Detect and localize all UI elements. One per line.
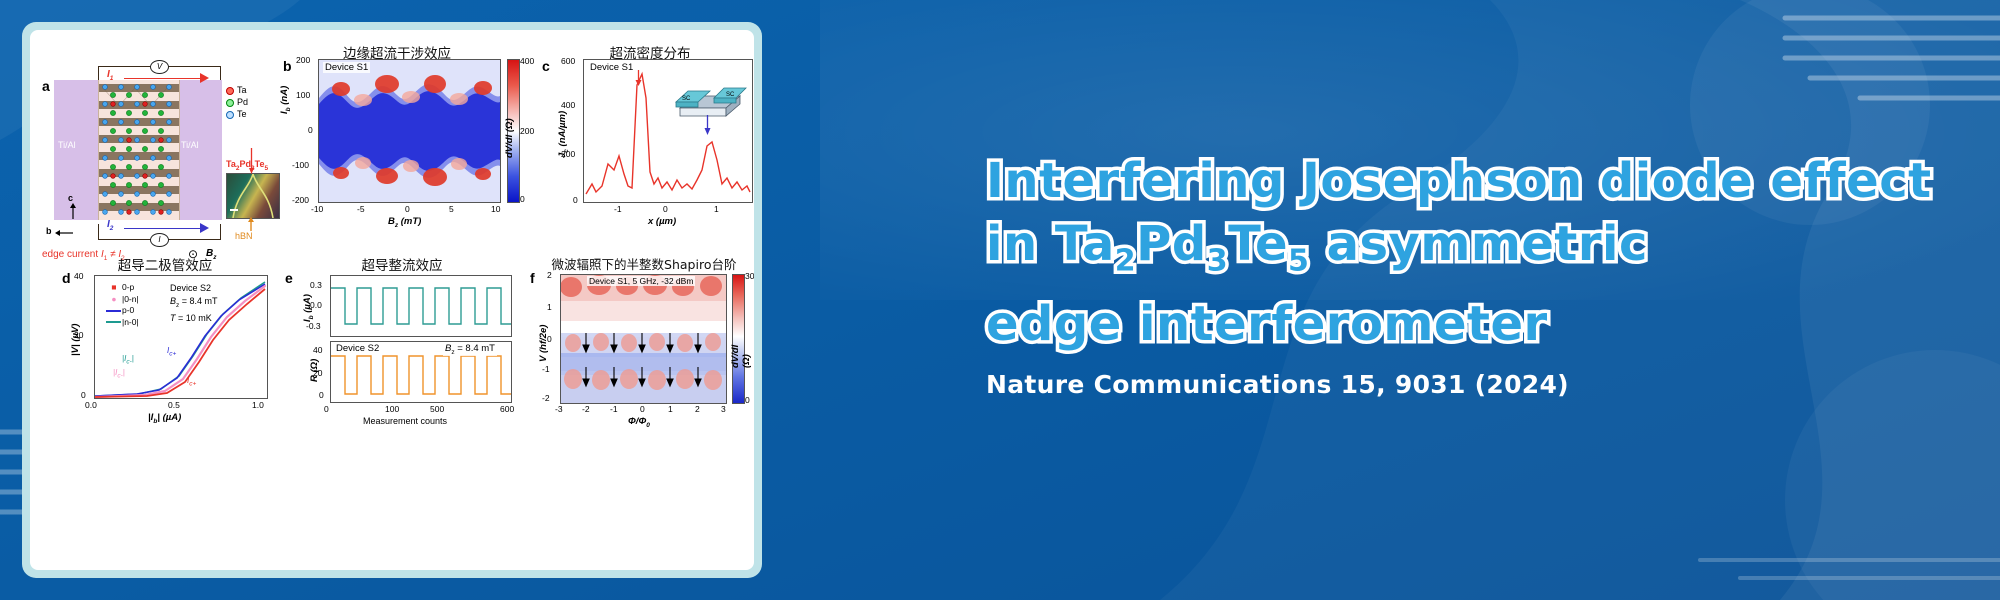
title-line-3: edge interferometer — [986, 293, 1966, 356]
contact-right — [177, 80, 222, 220]
panel-d-xtick-0: 0.0 — [85, 400, 97, 410]
panel-f-xtick-neg3: -3 — [555, 404, 563, 414]
title-line-2-b: Pd — [1136, 216, 1207, 272]
panel-d-legend-label-0n: |0-n| — [122, 294, 139, 304]
panel-d-legend-item-0n: ●|0-n| — [106, 294, 139, 306]
panel-f-xtick-neg2: -2 — [582, 404, 590, 414]
panel-f-title: 微波辐照下的半整数Shapiro台阶 — [528, 254, 754, 273]
panel-d-legend-item-0p: ■0-p — [106, 282, 139, 294]
device-photo-overlay — [227, 174, 279, 218]
panel-b-xtick-0: 0 — [405, 204, 410, 214]
material-arrow — [249, 148, 254, 174]
legend-label-pd: Pd — [237, 97, 248, 107]
panel-d-legend-item-n0: |n-0| — [106, 317, 139, 329]
panel-f-xtick-2: 2 — [695, 404, 700, 414]
voltmeter-icon: V — [150, 60, 169, 74]
panel-e-top-plot — [330, 275, 512, 337]
panel-f-xtick-0: 0 — [640, 404, 645, 414]
panel-f-label: f — [530, 270, 535, 286]
panel-d-xtick-05: 0.5 — [168, 400, 180, 410]
ta-atom-icon — [226, 87, 234, 95]
panel-d-label: d — [62, 270, 71, 286]
te-atom-icon — [226, 111, 234, 119]
legend-label-ta: Ta — [237, 85, 247, 95]
panel-e-xtick-600: 600 — [500, 404, 514, 414]
panel-c-ytick-400: 400 — [561, 100, 575, 110]
panel-f-cbar-tick-0: 0 — [745, 395, 750, 405]
legend-item-ta: Ta — [226, 84, 248, 96]
current-arrow-top — [124, 78, 202, 79]
figure-card: a V I Ti/Al Ti/Al — [22, 22, 762, 578]
panel-e-xtick-500: 500 — [430, 404, 444, 414]
panel-f-colorbar — [732, 274, 745, 404]
panel-b-cbar-tick-400: 400 — [520, 56, 534, 66]
panel-d-conditions: Device S2 Bz = 8.4 mT T = 10 mK — [170, 282, 218, 324]
panel-c-xtick-neg1: -1 — [614, 204, 622, 214]
title-line-2-sub1: 2 — [1115, 244, 1136, 279]
panel-b-ylabel: Ib (nA) — [279, 86, 292, 114]
panel-e-top-ylabel: Ib (µA) — [302, 294, 315, 322]
crystal-lattice-graphic — [98, 80, 180, 220]
axis-c-arrow — [70, 203, 76, 219]
panel-e-top-ytick-03: 0.3 — [310, 280, 322, 290]
panel-f-ytick-2: 2 — [547, 270, 552, 280]
panel-e-title: 超导整流效应 — [302, 254, 502, 274]
panel-c-device-tag: Device S1 — [588, 62, 635, 73]
legend-item-te: Te — [226, 108, 248, 120]
panel-d-legend-label-p0: p-0 — [122, 305, 134, 315]
panel-b-xtick-5: 5 — [449, 204, 454, 214]
panel-b-xtick-10: 10 — [491, 204, 500, 214]
panel-c-xtick-1: 1 — [714, 204, 719, 214]
panel-f-colorbar-label: dV/dI (Ω) — [730, 344, 752, 368]
panel-c-red-arrow — [635, 70, 642, 86]
legend-label-te: Te — [237, 109, 247, 119]
marker-square-icon: ■ — [106, 282, 122, 294]
panel-f-xtick-1: 1 — [668, 404, 673, 414]
atom-legend: Ta Pd Te — [226, 84, 248, 120]
panel-d-legend-label-n0: |n-0| — [122, 317, 139, 327]
panel-c-xlabel: x (µm) — [648, 216, 676, 227]
panel-e-bottom-ylabel: R (Ω) — [309, 359, 320, 382]
current-label-top: I1 — [107, 69, 113, 82]
panel-d-field: Bz = 8.4 mT — [170, 295, 218, 312]
panel-b-xtick-neg5: -5 — [357, 204, 365, 214]
panel-e-field-tag: Bz = 8.4 mT — [443, 343, 497, 356]
panel-b-cbar-tick-200: 200 — [520, 126, 534, 136]
marker-line-blue-icon — [106, 305, 122, 317]
ammeter-icon: I — [150, 233, 169, 247]
figure-panel-grid: a V I Ti/Al Ti/Al — [30, 30, 754, 570]
journal-citation: Nature Communications 15, 9031 (2024) — [986, 370, 1966, 399]
panel-f-shapiro-map — [561, 275, 726, 403]
panel-c-plot: Device S1 SC SC — [583, 59, 753, 203]
panel-f-cbar-tick-300: 300 — [745, 271, 754, 281]
panel-e-bottom-ytick-40: 40 — [313, 345, 322, 355]
title-line-2-sub3: 5 — [1288, 244, 1309, 279]
title-line-2-c: Te — [1228, 216, 1288, 272]
panel-b-xlabel: Bz (mT) — [388, 216, 421, 229]
panel-b-device-tag: Device S1 — [323, 62, 370, 73]
panel-d-legend-label-0p: 0-p — [122, 282, 134, 292]
panel-c-ytick-600: 600 — [561, 56, 575, 66]
panel-c-ylabel: Jc (nA/µm) — [557, 111, 570, 158]
panel-e-bias-squarewave — [331, 276, 511, 336]
lattice-atoms — [99, 80, 179, 220]
publication-title: Interfering Josephson diode effect in Ta… — [986, 150, 1966, 356]
panel-d-xtick-10: 1.0 — [252, 400, 264, 410]
panel-c-ytick-0: 0 — [573, 195, 578, 205]
panel-b-ytick-neg100: -100 — [292, 160, 309, 170]
circuit-wire-bottom-left — [98, 224, 99, 240]
contact-left-label: Ti/Al — [58, 140, 76, 150]
panel-e-xtick-0: 0 — [324, 404, 329, 414]
panel-b-ytick-0: 0 — [308, 125, 313, 135]
panel-b-cbar-tick-0: 0 — [520, 194, 525, 204]
panel-f-ytick-neg2: -2 — [542, 393, 550, 403]
panel-d-xlabel: |Ib| (µA) — [148, 412, 181, 425]
legend-item-pd: Pd — [226, 96, 248, 108]
axis-c-label: c — [68, 193, 73, 203]
panel-d-legend: ■0-p ●|0-n| p-0 |n-0| — [106, 282, 139, 328]
hbn-label: hBN — [235, 231, 253, 241]
current-label-bottom: I2 — [107, 219, 113, 232]
panel-c-label: c — [542, 58, 550, 74]
svg-text:SC: SC — [682, 96, 691, 102]
panel-b-ytick-neg200: -200 — [292, 195, 309, 205]
panel-d-annotation-ic-minus-1: |Ic-| — [122, 354, 134, 366]
panel-c-blue-arrow — [704, 115, 711, 135]
material-formula-label: Ta2Pd3Te5 — [226, 159, 268, 172]
title-line-2-d: asymmetric — [1309, 216, 1648, 272]
panel-e-top-ytick-neg03: -0.3 — [306, 321, 321, 331]
device-optical-image — [226, 173, 280, 219]
title-line-2: in Ta2Pd3Te5 asymmetric — [986, 213, 1966, 293]
panel-f-heatmap: Device S1, 5 GHz, -32 dBm — [560, 274, 727, 404]
title-block: Interfering Josephson diode effect in Ta… — [986, 150, 1966, 399]
publication-banner: a V I Ti/Al Ti/Al — [0, 0, 2000, 600]
panel-d-temp: T = 10 mK — [170, 312, 218, 325]
panel-d-ytick-40: 40 — [74, 271, 83, 281]
panel-f-device-tag: Device S1, 5 GHz, -32 dBm — [587, 276, 695, 286]
panel-f-ytick-1: 1 — [547, 302, 552, 312]
panel-f-ytick-neg1: -1 — [542, 364, 550, 374]
panel-b-xtick-neg10: -10 — [311, 204, 323, 214]
panel-a-label: a — [42, 78, 50, 94]
panel-e-device-tag: Device S2 — [334, 343, 381, 354]
hbn-arrow — [248, 217, 254, 231]
title-line-2-a: in Ta — [986, 216, 1115, 272]
panel-d-annotation-ic-plus-2: Ic+ — [187, 376, 196, 388]
panel-d-annotation-ic-plus-1: Ic+ — [167, 346, 176, 358]
current-arrowhead-top — [200, 73, 209, 83]
panel-e-bottom-ytick-0: 0 — [319, 390, 324, 400]
svg-text:SC: SC — [726, 92, 735, 98]
panel-f-xlabel: Φ/Φ0 — [628, 416, 650, 429]
panel-f-xtick-3: 3 — [721, 404, 726, 414]
contact-left — [54, 80, 99, 220]
axis-b-arrow — [55, 230, 73, 236]
panel-d-title: 超导二极管效应 — [60, 254, 270, 274]
panel-d-annotation-ic-minus-2: |Ic-| — [113, 368, 125, 380]
panel-b-heatmap-image — [319, 60, 500, 202]
panel-c-xtick-0: 0 — [663, 204, 668, 214]
panel-d-legend-item-p0: p-0 — [106, 305, 139, 317]
circuit-wire-bottom-right — [220, 224, 221, 240]
pd-atom-icon — [226, 99, 234, 107]
panel-f-xtick-neg1: -1 — [610, 404, 618, 414]
marker-dot-icon: ● — [106, 294, 122, 306]
panel-d-ytick-0: 0 — [81, 390, 86, 400]
panel-d-ylabel: |V| (µV) — [70, 324, 81, 356]
contact-right-label: Ti/Al — [181, 140, 199, 150]
title-line-2-sub2: 3 — [1207, 244, 1228, 279]
panel-e-bottom-plot: Device S2 Bz = 8.4 mT — [330, 341, 512, 403]
figure-card-inner: a V I Ti/Al Ti/Al — [30, 30, 754, 570]
panel-b-ytick-200: 200 — [296, 55, 310, 65]
current-arrow-bottom — [124, 228, 202, 229]
panel-b-ytick-100: 100 — [296, 90, 310, 100]
panel-d-device-tag: Device S2 — [170, 282, 218, 295]
panel-b-heatmap: Device S1 — [318, 59, 501, 203]
current-arrowhead-bottom — [200, 223, 209, 233]
panel-e-xlabel: Measurement counts — [363, 416, 447, 426]
marker-line-teal-icon — [106, 317, 122, 329]
panel-f-ylabel: V (hf/2e) — [538, 325, 549, 362]
title-line-1: Interfering Josephson diode effect — [986, 150, 1966, 213]
axis-b-label: b — [46, 226, 52, 236]
panel-b-label: b — [283, 58, 292, 74]
panel-e-label: e — [285, 270, 293, 286]
panel-e-xtick-100: 100 — [385, 404, 399, 414]
panel-b-colorbar-label: dV/dI (Ω) — [504, 118, 515, 158]
